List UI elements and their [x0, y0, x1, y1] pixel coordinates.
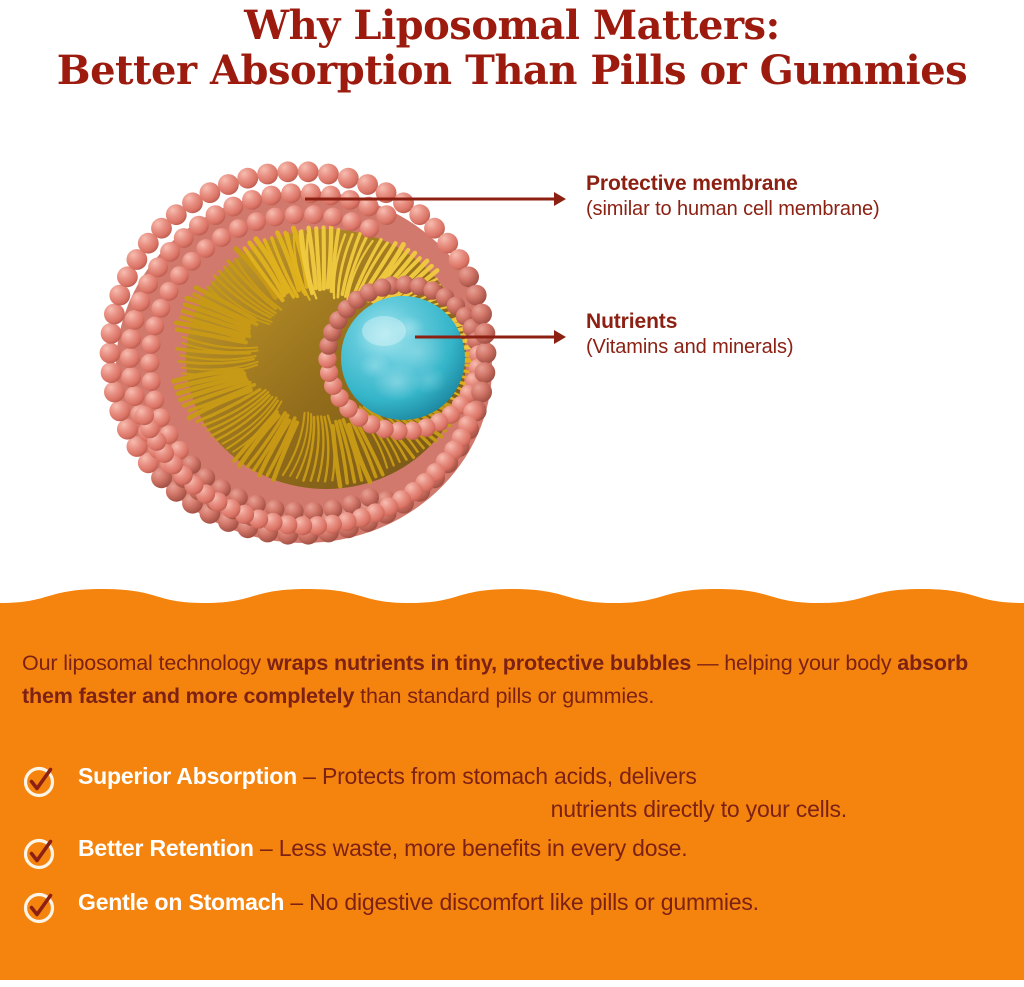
intro-paragraph: Our liposomal technology wraps nutrients… [22, 647, 1002, 712]
check-circle-icon [22, 889, 58, 925]
benefits-panel: Our liposomal technology wraps nutrients… [0, 575, 1024, 987]
benefit-description: Less waste, more benefits in every dose. [279, 835, 688, 861]
nutrient-core [341, 296, 465, 420]
benefit-description: No digestive discomfort like pills or gu… [309, 889, 759, 915]
bottom-white-strip [0, 980, 1024, 987]
callout-nutrients-subtitle: (Vitamins and minerals) [586, 335, 1016, 359]
benefit-item-gentle-on-stomach: Gentle on Stomach – No digestive discomf… [22, 886, 1007, 934]
benefit-label: Superior Absorption [78, 763, 297, 789]
benefit-dash: – [254, 835, 279, 861]
benefit-text: Gentle on Stomach – No digestive discomf… [78, 889, 759, 915]
benefit-dash: – [284, 889, 309, 915]
intro-emphasis: wraps nutrients in tiny, protective bubb… [267, 651, 691, 675]
benefit-label: Gentle on Stomach [78, 889, 284, 915]
benefit-label: Better Retention [78, 835, 254, 861]
page-title: Why Liposomal Matters: Better Absorption… [0, 0, 1024, 94]
callout-nutrients: Nutrients (Vitamins and minerals) [586, 310, 1016, 359]
benefit-text: Superior Absorption – Protects from stom… [22, 763, 1007, 826]
check-circle-icon [22, 835, 58, 871]
liposome-illustration [88, 138, 588, 578]
panel-body: Our liposomal technology wraps nutrients… [0, 620, 1024, 987]
callout-protective-membrane: Protective membrane (similar to human ce… [586, 172, 1016, 221]
intro-text: — helping your body [691, 651, 897, 675]
benefit-item-superior-absorption: Superior Absorption – Protects from stom… [22, 760, 1007, 826]
callout-membrane-subtitle: (similar to human cell membrane) [586, 197, 1016, 221]
title-line-2: Better Absorption Than Pills or Gummies [0, 49, 1024, 94]
infographic-page: Why Liposomal Matters: Better Absorption… [0, 0, 1024, 987]
callout-membrane-title: Protective membrane [586, 172, 1016, 197]
benefit-list: Superior Absorption – Protects from stom… [22, 760, 1007, 940]
intro-text: than standard pills or gummies. [354, 684, 654, 708]
check-circle-icon [22, 763, 58, 799]
benefit-text: Better Retention – Less waste, more bene… [78, 835, 687, 861]
title-line-1: Why Liposomal Matters: [0, 4, 1024, 49]
benefit-dash: – [297, 763, 322, 789]
callout-nutrients-title: Nutrients [586, 310, 1016, 335]
benefit-description: Protects from stomach acids, delivers [322, 763, 697, 789]
benefit-item-better-retention: Better Retention – Less waste, more bene… [22, 832, 1007, 880]
benefit-description-line2: nutrients directly to your cells. [22, 793, 1007, 826]
intro-text: Our liposomal technology [22, 651, 267, 675]
